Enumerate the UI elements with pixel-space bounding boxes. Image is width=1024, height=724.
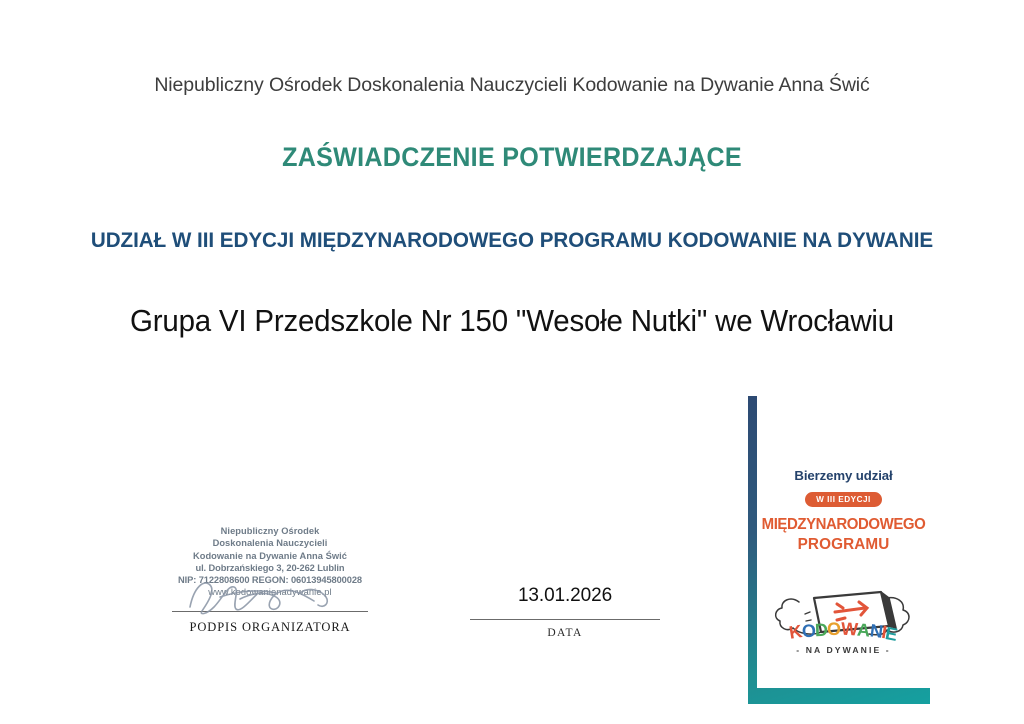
certificate-title: ZAŚWIADCZENIE POTWIERDZAJĄCE (36, 142, 988, 173)
signature-block: Niepubliczny Ośrodek Doskonalenia Nauczy… (172, 525, 368, 635)
date-block: 13.01.2026 DATA (470, 585, 660, 639)
stamp-line-4: ul. Dobrzańskiego 3, 20-262 Lublin (172, 562, 368, 574)
logo-letter-2: O (801, 621, 816, 640)
kodowanie-wordmark: KODOWANIE (757, 622, 930, 640)
logo-letter-4: O (827, 620, 841, 638)
date-label: DATA (470, 620, 660, 639)
certificate-subtitle: UDZIAŁ W III EDYCJI MIĘDZYNARODOWEGO PRO… (20, 228, 1003, 253)
badge-line-2: MIĘDZYNARODOWEGO (759, 516, 929, 534)
badge-line-1: Bierzemy udział (757, 468, 930, 483)
program-badge: Bierzemy udział W III EDYCJI MIĘDZYNAROD… (748, 396, 930, 704)
participant-name: Grupa VI Przedszkole Nr 150 "Wesołe Nutk… (26, 303, 999, 339)
organization-line: Niepubliczny Ośrodek Doskonalenia Nauczy… (0, 74, 1024, 97)
certificate-page: Niepubliczny Ośrodek Doskonalenia Nauczy… (0, 0, 1024, 724)
badge-inner: Bierzemy udział W III EDYCJI MIĘDZYNAROD… (757, 396, 930, 688)
signature-label: PODPIS ORGANIZATORA (172, 612, 368, 635)
badge-text-group: Bierzemy udział W III EDYCJI MIĘDZYNAROD… (757, 468, 930, 554)
edition-badge: W III EDYCJI (805, 492, 882, 507)
kodowanie-logo: KODOWANIE - NA DYWANIE - (757, 582, 930, 668)
logo-subtitle: - NA DYWANIE - (757, 645, 930, 655)
date-value: 13.01.2026 (470, 585, 660, 613)
stamp-line-2: Doskonalenia Nauczycieli (172, 537, 368, 549)
stamp-line-5: NIP: 7122808600 REGON: 06013945800028 (172, 574, 368, 586)
logo-letter-5: W (840, 620, 857, 639)
stamp-line-1: Niepubliczny Ośrodek (172, 525, 368, 537)
organizer-stamp: Niepubliczny Ośrodek Doskonalenia Nauczy… (172, 525, 368, 605)
stamp-line-3: Kodowanie na Dywanie Anna Świć (172, 550, 368, 562)
logo-letter-3: D (815, 621, 828, 639)
stamp-line-6: www.kodowanienadywanie.pl (172, 586, 368, 598)
logo-letter-9: E (884, 624, 899, 644)
badge-line-3: PROGRAMU (757, 536, 930, 554)
